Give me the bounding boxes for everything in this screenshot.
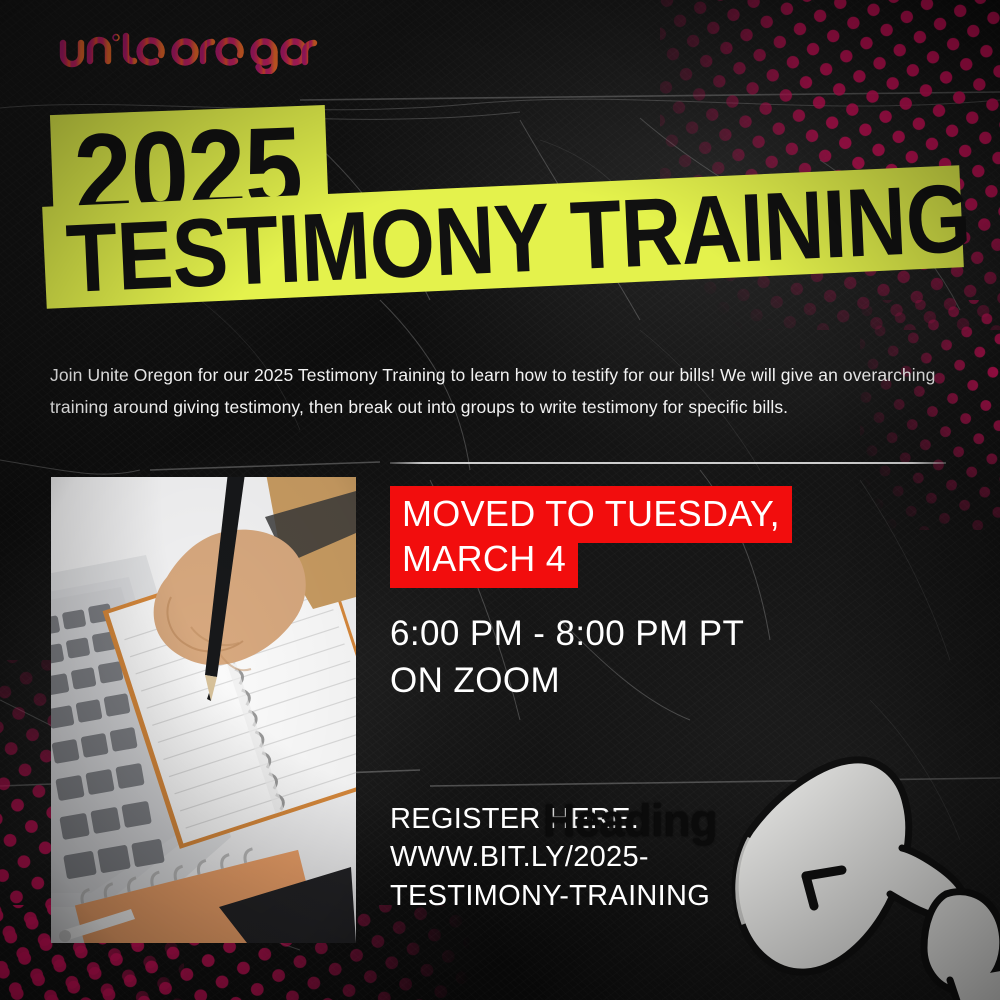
heading-placeholder-text: Heading: [543, 798, 717, 843]
poster-canvas: 2025 TESTIMONY TRAINING Join Unite Orego…: [0, 0, 1000, 1000]
register-url-line-2[interactable]: TESTIMONY-TRAINING: [390, 877, 810, 915]
